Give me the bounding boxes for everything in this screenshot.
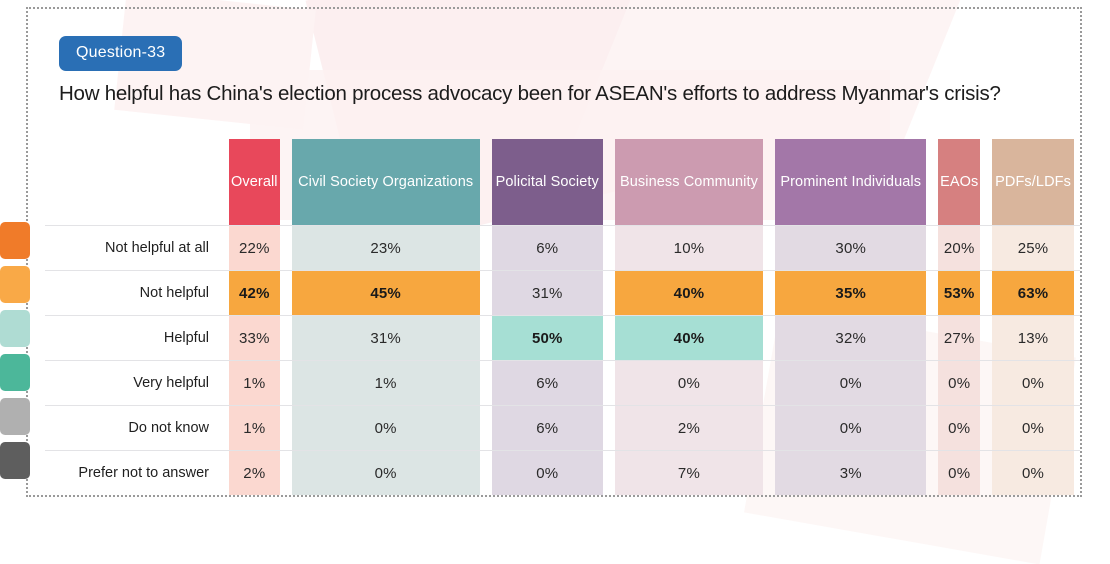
data-cell[interactable]: 27% (932, 315, 986, 360)
infographic-root: Question-33 How helpful has China's elec… (0, 0, 1110, 511)
column-header-label: Overall (229, 139, 280, 225)
data-value: 2% (615, 406, 763, 450)
data-value: 6% (492, 226, 603, 270)
results-table: OverallCivil Society OrganizationsPolici… (45, 133, 1080, 495)
data-value: 63% (992, 271, 1074, 315)
question-badge: Question-33 (59, 36, 182, 71)
data-value: 27% (938, 316, 980, 360)
data-value: 35% (775, 271, 926, 315)
data-value: 0% (992, 406, 1074, 450)
table-row: Not helpful42%45%31%40%35%53%63% (45, 270, 1080, 315)
data-cell[interactable]: 42% (223, 270, 286, 315)
legend-swatch-helpful (0, 310, 30, 347)
data-value: 1% (229, 406, 280, 450)
data-cell[interactable]: 1% (223, 405, 286, 450)
column-header-label: Business Community (615, 139, 763, 225)
data-cell[interactable]: 63% (986, 270, 1080, 315)
data-value: 0% (615, 361, 763, 405)
data-value: 7% (615, 451, 763, 495)
data-value: 3% (775, 451, 926, 495)
data-cell[interactable]: 35% (769, 270, 932, 315)
row-header-corner (45, 133, 223, 225)
table-row: Helpful33%31%50%40%32%27%13% (45, 315, 1080, 360)
data-value: 1% (292, 361, 480, 405)
data-cell[interactable]: 6% (486, 225, 609, 270)
column-header-civil-society-organizations[interactable]: Civil Society Organizations (286, 133, 486, 225)
legend-swatch-not-helpful (0, 266, 30, 303)
data-value: 6% (492, 361, 603, 405)
data-cell[interactable]: 31% (286, 315, 486, 360)
data-value: 53% (938, 271, 980, 315)
data-cell[interactable]: 0% (486, 450, 609, 495)
data-cell[interactable]: 23% (286, 225, 486, 270)
column-header-overall[interactable]: Overall (223, 133, 286, 225)
data-value: 10% (615, 226, 763, 270)
data-cell[interactable]: 32% (769, 315, 932, 360)
table-row: Very helpful1%1%6%0%0%0%0% (45, 360, 1080, 405)
data-cell[interactable]: 1% (286, 360, 486, 405)
data-cell[interactable]: 0% (932, 405, 986, 450)
data-value: 0% (938, 451, 980, 495)
data-cell[interactable]: 45% (286, 270, 486, 315)
column-header-label: Policital Society (492, 139, 603, 225)
data-cell[interactable]: 0% (769, 360, 932, 405)
legend-swatch-prefer-not-to-answer (0, 442, 30, 479)
data-cell[interactable]: 0% (769, 405, 932, 450)
data-cell[interactable]: 0% (932, 450, 986, 495)
data-cell[interactable]: 40% (609, 315, 769, 360)
data-value: 25% (992, 226, 1074, 270)
table-header-row: OverallCivil Society OrganizationsPolici… (45, 133, 1080, 225)
data-value: 0% (938, 406, 980, 450)
data-cell[interactable]: 2% (609, 405, 769, 450)
data-cell[interactable]: 22% (223, 225, 286, 270)
data-cell[interactable]: 3% (769, 450, 932, 495)
legend-swatch-strip (0, 222, 30, 486)
column-header-label: PDFs/LDFs (992, 139, 1074, 225)
data-value: 40% (615, 271, 763, 315)
column-header-prominent-individuals[interactable]: Prominent Individuals (769, 133, 932, 225)
column-header-label: Civil Society Organizations (292, 139, 480, 225)
data-cell[interactable]: 1% (223, 360, 286, 405)
data-value: 50% (492, 316, 603, 360)
data-value: 0% (775, 406, 926, 450)
column-header-eaos[interactable]: EAOs (932, 133, 986, 225)
data-cell[interactable]: 10% (609, 225, 769, 270)
data-cell[interactable]: 0% (286, 405, 486, 450)
row-label-very-helpful: Very helpful (45, 360, 223, 405)
data-value: 0% (992, 361, 1074, 405)
data-value: 42% (229, 271, 280, 315)
data-value: 2% (229, 451, 280, 495)
table-row: Prefer not to answer2%0%0%7%3%0%0% (45, 450, 1080, 495)
column-header-pdfs-ldfs[interactable]: PDFs/LDFs (986, 133, 1080, 225)
data-value: 20% (938, 226, 980, 270)
data-cell[interactable]: 0% (986, 360, 1080, 405)
data-cell[interactable]: 30% (769, 225, 932, 270)
data-value: 1% (229, 361, 280, 405)
table-row: Not helpful at all22%23%6%10%30%20%25% (45, 225, 1080, 270)
data-cell[interactable]: 2% (223, 450, 286, 495)
data-cell[interactable]: 50% (486, 315, 609, 360)
row-label-not-helpful: Not helpful (45, 270, 223, 315)
legend-swatch-very-helpful (0, 354, 30, 391)
data-cell[interactable]: 0% (286, 450, 486, 495)
data-cell[interactable]: 0% (986, 405, 1080, 450)
data-cell[interactable]: 25% (986, 225, 1080, 270)
page-title: How helpful has China's election process… (59, 82, 1079, 106)
legend-swatch-do-not-know (0, 398, 30, 435)
column-header-business-community[interactable]: Business Community (609, 133, 769, 225)
data-cell[interactable]: 7% (609, 450, 769, 495)
data-value: 32% (775, 316, 926, 360)
data-value: 33% (229, 316, 280, 360)
legend-swatch-not-helpful-at-all (0, 222, 30, 259)
data-value: 22% (229, 226, 280, 270)
data-value: 0% (938, 361, 980, 405)
table-row: Do not know1%0%6%2%0%0%0% (45, 405, 1080, 450)
data-value: 40% (615, 316, 763, 360)
data-value: 13% (992, 316, 1074, 360)
data-cell[interactable]: 0% (986, 450, 1080, 495)
data-value: 6% (492, 406, 603, 450)
data-cell[interactable]: 53% (932, 270, 986, 315)
data-value: 31% (292, 316, 480, 360)
data-cell[interactable]: 13% (986, 315, 1080, 360)
row-label-helpful: Helpful (45, 315, 223, 360)
data-value: 0% (775, 361, 926, 405)
data-value: 0% (292, 451, 480, 495)
data-value: 0% (992, 451, 1074, 495)
row-label-do-not-know: Do not know (45, 405, 223, 450)
data-value: 30% (775, 226, 926, 270)
data-value: 0% (492, 451, 603, 495)
row-label-prefer-not-to-answer: Prefer not to answer (45, 450, 223, 495)
data-value: 45% (292, 271, 480, 315)
data-cell[interactable]: 0% (932, 360, 986, 405)
column-header-label: EAOs (938, 139, 980, 225)
data-value: 0% (292, 406, 480, 450)
data-cell[interactable]: 20% (932, 225, 986, 270)
data-value: 23% (292, 226, 480, 270)
data-cell[interactable]: 31% (486, 270, 609, 315)
data-cell[interactable]: 6% (486, 405, 609, 450)
data-cell[interactable]: 6% (486, 360, 609, 405)
data-cell[interactable]: 33% (223, 315, 286, 360)
data-value: 31% (492, 271, 603, 315)
data-cell[interactable]: 0% (609, 360, 769, 405)
column-header-policital-society[interactable]: Policital Society (486, 133, 609, 225)
data-cell[interactable]: 40% (609, 270, 769, 315)
column-header-label: Prominent Individuals (775, 139, 926, 225)
row-label-not-helpful-at-all: Not helpful at all (45, 225, 223, 270)
